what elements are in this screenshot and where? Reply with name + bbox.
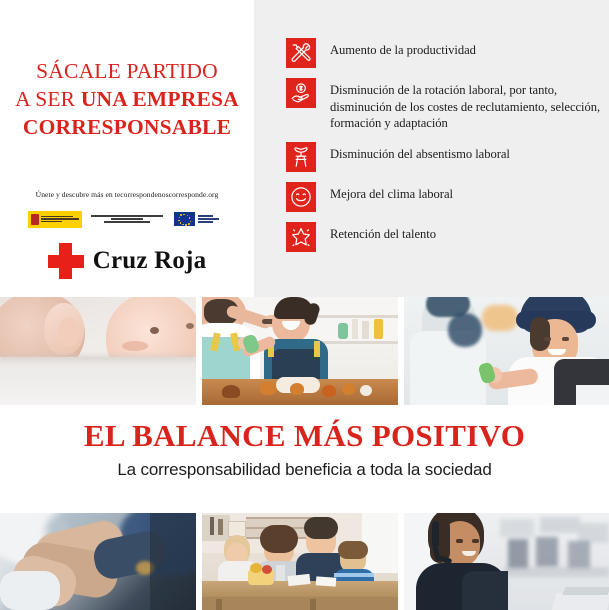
star-icon (286, 222, 316, 252)
benefit-item: Retención del talento (286, 222, 604, 252)
headline-line-3: CORRESPONSABLE (0, 114, 254, 142)
benefit-item: Disminución del absentismo laboral (286, 142, 604, 172)
top-section: SÁCALE PARTIDO A SER UNA EMPRESA CORRESP… (0, 0, 609, 297)
photo-call-center-agent (404, 513, 609, 610)
main-headline: SÁCALE PARTIDO A SER UNA EMPRESA CORRESP… (0, 58, 254, 142)
cruz-roja-wordmark: Cruz Roja (93, 247, 207, 275)
institutional-logos (0, 206, 254, 232)
headline-line-1: SÁCALE PARTIDO (0, 58, 254, 86)
benefit-label: Retención del talento (330, 222, 436, 243)
photo-strip-bottom (0, 513, 609, 610)
benefit-item: Disminución de la rotación laboral, por … (286, 78, 604, 132)
benefit-item: Mejora del clima laboral (286, 182, 604, 212)
cruz-roja-logo: Cruz Roja (0, 238, 254, 284)
headline-line-2: A SER UNA EMPRESA (0, 86, 254, 114)
gobierno-de-espana-logo (28, 211, 82, 228)
photo-strip-top (0, 297, 609, 405)
headline-line-2-bold: UNA EMPRESA (81, 87, 239, 111)
middle-subtitle: La corresponsabilidad beneficia a toda l… (0, 460, 609, 480)
benefit-label: Disminución del absentismo laboral (330, 142, 510, 163)
smiley-icon (286, 182, 316, 212)
headline-line-2-light: A SER (15, 87, 81, 111)
middle-title: EL BALANCE MÁS POSITIVO (0, 418, 609, 454)
benefit-label: Disminución de la rotación laboral, por … (330, 78, 604, 132)
photo-chef-woman (404, 297, 609, 405)
spain-coat-of-arms-icon (31, 214, 39, 225)
benefit-item: Aumento de la productividad (286, 38, 604, 68)
photo-father-daughter-cooking (202, 297, 398, 405)
photo-handshake (0, 513, 196, 610)
benefit-label: Mejora del clima laboral (330, 182, 453, 203)
hand-coin-icon (286, 78, 316, 108)
photo-baby-hand (0, 297, 196, 405)
eu-flag-icon (174, 212, 195, 226)
red-cross-icon (48, 243, 84, 279)
website-url[interactable]: Únete y descubre más en tecorrespondenos… (0, 190, 254, 199)
benefits-list: Aumento de la productividad Disminución … (286, 38, 604, 252)
middle-title-block: EL BALANCE MÁS POSITIVO La corresponsabi… (0, 418, 609, 480)
photo-family-table (202, 513, 398, 610)
benefit-label: Aumento de la productividad (330, 38, 476, 59)
tools-icon (286, 38, 316, 68)
programa-operativo-logo (90, 211, 164, 228)
union-europea-logo (172, 211, 226, 228)
poster-root: SÁCALE PARTIDO A SER UNA EMPRESA CORRESP… (0, 0, 609, 610)
chair-icon (286, 142, 316, 172)
